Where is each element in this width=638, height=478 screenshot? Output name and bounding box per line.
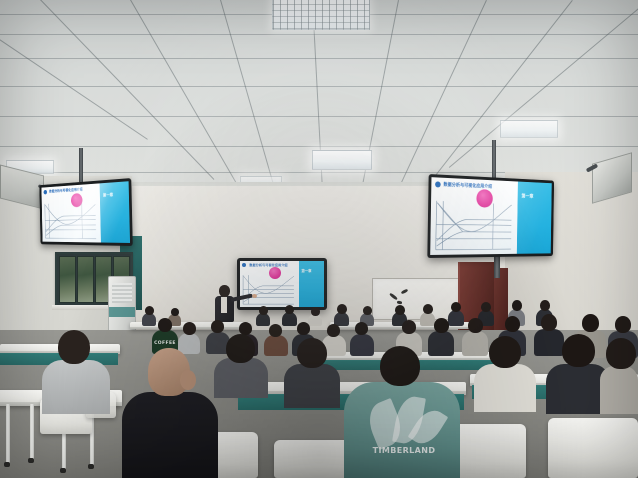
attendee bbox=[600, 338, 638, 414]
attendee bbox=[350, 322, 374, 356]
shirt-text-coffee: COFFEE bbox=[154, 341, 176, 346]
slide-right-title: 数据分析与可视化应用介绍 bbox=[443, 182, 492, 190]
bald-man-torso bbox=[122, 392, 218, 478]
slide-left-panel: 第一章 bbox=[100, 181, 130, 243]
slide-right-body: 数据分析与可视化应用介绍 bbox=[430, 177, 518, 255]
display-right-screen: 数据分析与可视化应用介绍 bbox=[430, 177, 552, 255]
suspended-ceiling bbox=[0, 0, 638, 196]
display-center-screen: 数据分析与可视化应用介绍 第一章 bbox=[240, 261, 324, 307]
attendee bbox=[256, 306, 270, 326]
grey-shirt-torso bbox=[42, 360, 110, 414]
desk-foot bbox=[4, 462, 10, 467]
slide-right-header: 数据分析与可视化应用介绍 bbox=[435, 181, 492, 189]
attendee bbox=[428, 318, 454, 356]
wall-display-right[interactable]: 数据分析与可视化应用介绍 bbox=[427, 174, 554, 258]
attendee bbox=[474, 336, 536, 412]
attendee bbox=[284, 338, 340, 408]
ac-accent-band bbox=[109, 307, 135, 317]
attendee-bald-black-shirt bbox=[122, 348, 218, 478]
presenter-hand bbox=[252, 294, 257, 298]
slide-center-title: 数据分析与可视化应用介绍 bbox=[249, 263, 287, 267]
slide-center-body: 数据分析与可视化应用介绍 bbox=[240, 261, 299, 307]
slide-right-panel: 第一章 bbox=[517, 182, 552, 254]
timberland-head bbox=[380, 346, 420, 386]
attendee bbox=[334, 304, 349, 326]
slide-center-panel: 第一章 bbox=[299, 261, 324, 307]
display-mount-pole-left bbox=[79, 148, 83, 182]
presenter-shirt bbox=[221, 297, 227, 313]
desk-leg bbox=[6, 404, 10, 464]
attendee bbox=[214, 334, 268, 398]
attendee-grey-shirt bbox=[42, 330, 110, 414]
slide-left-panel-text: 第一章 bbox=[103, 192, 113, 198]
whiteboard bbox=[372, 278, 460, 320]
projection-screen-center[interactable]: 数据分析与可视化应用介绍 第一章 bbox=[237, 258, 327, 310]
desk-leg bbox=[30, 404, 34, 460]
slide-left-chart bbox=[44, 199, 99, 240]
slide-left-body: 数据分析与可视化应用介绍 bbox=[41, 183, 101, 242]
slide-right-panel-text: 第一章 bbox=[521, 193, 533, 200]
display-left-screen: 数据分析与可视化应用介绍 bbox=[41, 181, 130, 243]
slide-center-header: 数据分析与可视化应用介绍 bbox=[242, 263, 287, 267]
ceiling-light-panel-center bbox=[312, 150, 372, 170]
wall-display-left[interactable]: 数据分析与可视化应用介绍 bbox=[39, 178, 132, 246]
slide-center-panel-text: 第一章 bbox=[301, 268, 311, 273]
display-mount-pole-right bbox=[492, 140, 496, 178]
classroom-photo: 数据分析与可视化应用介绍 bbox=[0, 0, 638, 478]
classroom-chair[interactable] bbox=[548, 418, 638, 478]
slide-center-chart bbox=[242, 273, 296, 305]
ceiling-light-panel-right bbox=[500, 120, 558, 138]
attendee-timberland-shirt: TIMBERLAND bbox=[344, 360, 460, 478]
desk-foot bbox=[28, 458, 34, 463]
desk-foot bbox=[60, 468, 66, 473]
slide-right-chart bbox=[434, 197, 515, 251]
bald-man-ear bbox=[180, 370, 196, 390]
ceiling-light-grill-top bbox=[272, 0, 370, 30]
ac-vent-icon bbox=[112, 283, 132, 303]
shirt-text-timberland: TIMBERLAND bbox=[364, 446, 444, 455]
slide-logo-icon bbox=[242, 263, 246, 267]
presenter-head bbox=[219, 285, 230, 297]
slide-logo-icon bbox=[435, 181, 441, 187]
desk-foot bbox=[88, 464, 94, 469]
slide-logo-icon bbox=[44, 190, 48, 195]
grey-shirt-head bbox=[58, 330, 90, 364]
